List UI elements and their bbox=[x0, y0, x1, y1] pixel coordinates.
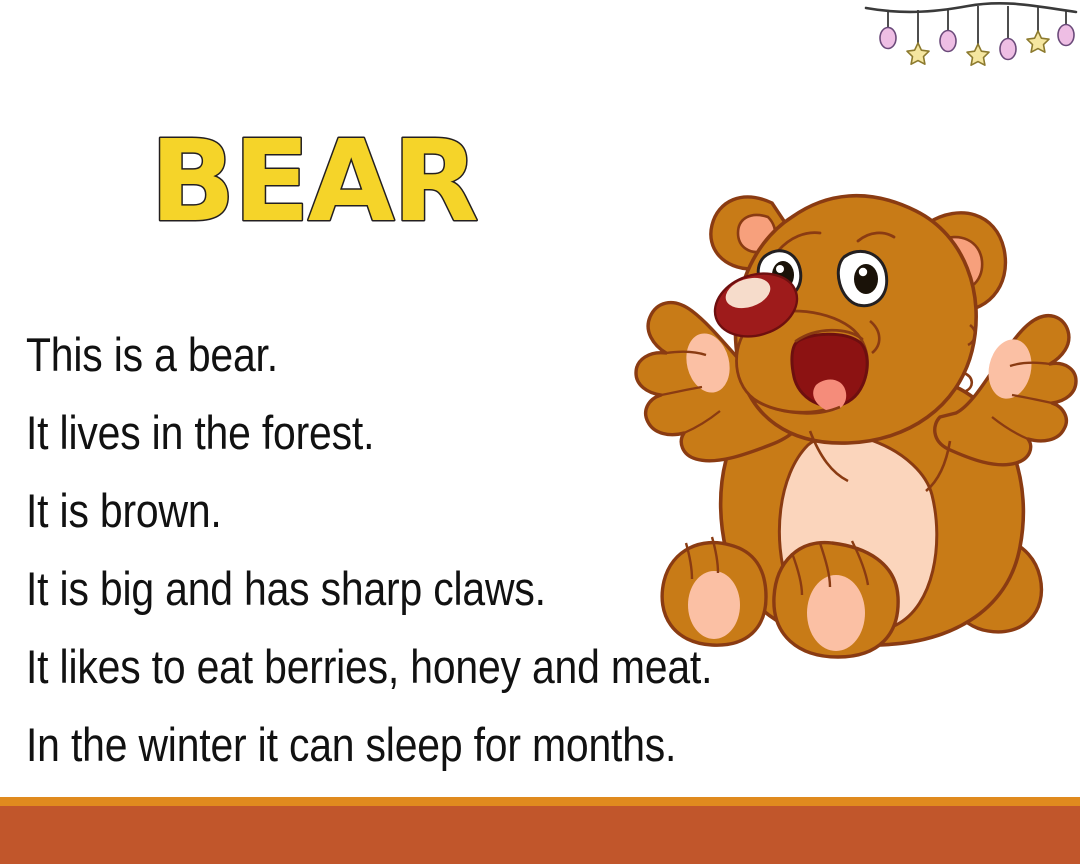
garland-oval-3 bbox=[1000, 6, 1016, 60]
garland-oval-2 bbox=[940, 9, 956, 52]
bear-foot-pad-left bbox=[688, 571, 740, 639]
garland-star-2 bbox=[967, 6, 989, 65]
page-title-text: BEAR bbox=[150, 117, 477, 247]
bear-foot-left bbox=[662, 537, 766, 645]
party-garland bbox=[860, 0, 1080, 70]
footer-band-terracotta bbox=[0, 806, 1080, 864]
bear-illustration bbox=[620, 145, 1080, 665]
garland-string bbox=[866, 3, 1076, 12]
flashcard-page: BEAR This is a bear. It lives in the for… bbox=[0, 0, 1080, 864]
bear-foot-pad-right bbox=[807, 575, 865, 651]
page-title: BEAR bbox=[150, 112, 490, 252]
garland-star-1 bbox=[907, 10, 929, 64]
bear-eye-right bbox=[838, 251, 886, 305]
garland-oval-1 bbox=[880, 11, 896, 49]
garland-oval-4 bbox=[1058, 11, 1074, 46]
garland-star-3 bbox=[1027, 7, 1049, 52]
text-line-6: In the winter it can sleep for months. bbox=[26, 706, 739, 784]
footer-stripe-orange bbox=[0, 797, 1080, 806]
